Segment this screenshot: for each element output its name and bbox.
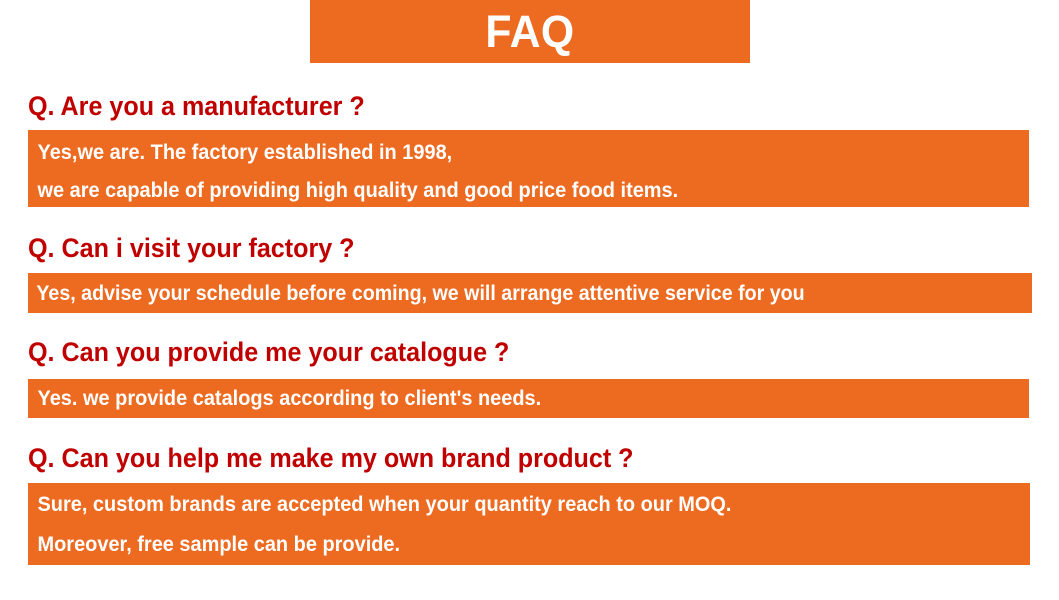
faq-answer-bar: Yes,we are. The factory established in 1… (28, 130, 1029, 207)
faq-answer-line: Yes. we provide catalogs according to cl… (28, 388, 979, 409)
faq-answer-line: Yes,we are. The factory established in 1… (28, 142, 979, 163)
faq-answer-line: we are capable of providing high quality… (28, 180, 979, 201)
faq-answer-bar: Yes. we provide catalogs according to cl… (28, 379, 1029, 418)
faq-answer-bar: Sure, custom brands are accepted when yo… (28, 483, 1030, 565)
faq-question: Q. Can you provide me your catalogue ? (28, 338, 509, 366)
faq-question: Q. Can i visit your factory ? (28, 234, 355, 262)
faq-question: Q. Are you a manufacturer ? (28, 92, 365, 120)
faq-answer-bar: Yes, advise your schedule before coming,… (28, 273, 1032, 313)
faq-answer-line: Yes, advise your schedule before coming,… (28, 283, 967, 304)
faq-page: FAQ Q. Are you a manufacturer ? Yes,we a… (0, 0, 1059, 600)
faq-item-list: Q. Are you a manufacturer ? Yes,we are. … (0, 0, 1059, 600)
faq-answer-line: Moreover, free sample can be provide. (28, 534, 980, 555)
faq-question: Q. Can you help me make my own brand pro… (28, 444, 634, 472)
faq-answer-line: Sure, custom brands are accepted when yo… (28, 494, 980, 515)
